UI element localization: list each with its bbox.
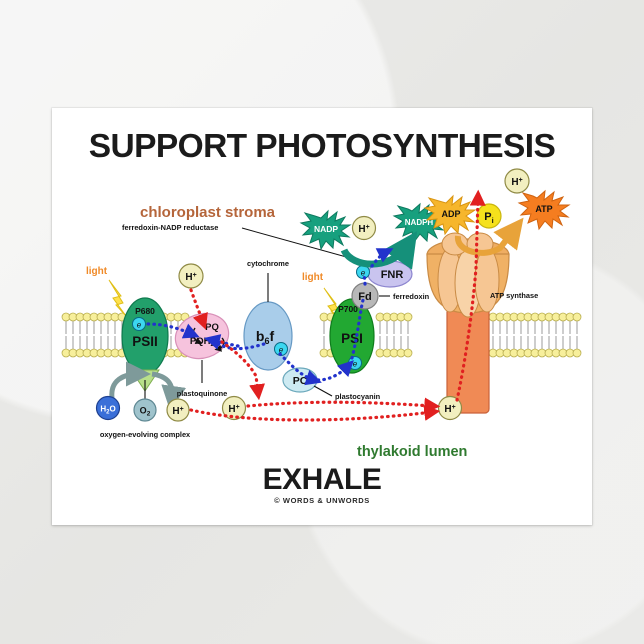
complex-cytochrome-b6f[interactable]: b6f e cytochrome [244, 259, 292, 370]
molecule-water: H2O [97, 397, 120, 420]
nadp-label: NADP [314, 224, 338, 234]
molecule-proton-nadph: H+ [353, 217, 376, 240]
postcard: SUPPORT PHOTOSYNTHESIS chloroplast strom… [52, 108, 592, 525]
credit-line: © WORDS & UNWORDS [52, 496, 592, 505]
complex-plastocyanin[interactable]: PC plastocyanin [283, 368, 381, 401]
cytochrome-label: cytochrome [247, 259, 289, 268]
psi-label: PSI [341, 331, 363, 346]
molecule-oxygen: O2 [134, 399, 156, 421]
complex-psi[interactable]: P700 PSI e [330, 299, 374, 373]
adp-label: ADP [441, 209, 460, 219]
molecule-proton-top-atp: H+ [505, 169, 529, 193]
oec-label: oxygen-evolving complex [100, 430, 191, 439]
plastocyanin-label: plastocyanin [335, 392, 381, 401]
psi-electron-label: e [353, 360, 358, 369]
psi-pigment-label: P700 [338, 304, 358, 314]
fnr-label: FNR [381, 269, 404, 281]
psii-pigment-label: P680 [135, 306, 155, 316]
ferredoxin-label: ferredoxin [393, 292, 430, 301]
light-arrow-psii: light [86, 266, 126, 316]
light-label-psi: light [302, 272, 324, 283]
molecule-nadp: NADP [301, 211, 350, 249]
molecule-phosphate: Pi [477, 204, 501, 228]
atp-label: ATP [535, 204, 552, 214]
plastoquinone-label: plastoquinone [177, 389, 228, 398]
psii-label: PSII [132, 334, 158, 349]
complex-psii[interactable]: P680 e PSII [122, 298, 168, 374]
molecule-proton-stroma-pq: H+ [179, 264, 203, 288]
molecule-atp: ATP [519, 191, 569, 229]
light-label-psii: light [86, 266, 108, 277]
molecule-proton-lumen-left: H+ [167, 399, 189, 421]
fnr-callout-label: ferredoxin-NADP reductase [122, 223, 218, 232]
exhale-word: EXHALE [52, 463, 592, 497]
pq-label: PQ [205, 322, 219, 333]
psii-electron-label: e [137, 321, 142, 330]
fd-label: Fd [358, 291, 371, 303]
atp-synthase-label: ATP synthase [490, 291, 538, 300]
